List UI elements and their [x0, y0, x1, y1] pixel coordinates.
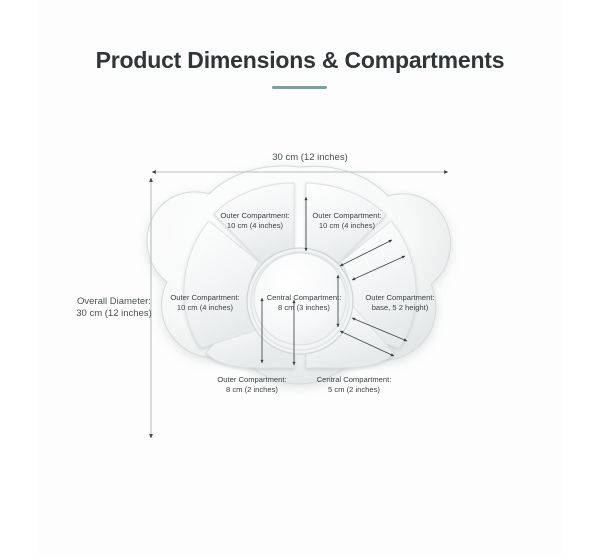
top-dimension-label: 30 cm (12 inches)	[235, 152, 385, 164]
central-compartment	[247, 248, 353, 354]
left-dimension-label: Overall Diameter: 30 cm (12 inches)	[62, 296, 166, 320]
tray-diagram-svg	[0, 0, 600, 555]
diagram-stage: 30 cm (12 inches) Overall Diameter: 30 c…	[0, 0, 600, 555]
